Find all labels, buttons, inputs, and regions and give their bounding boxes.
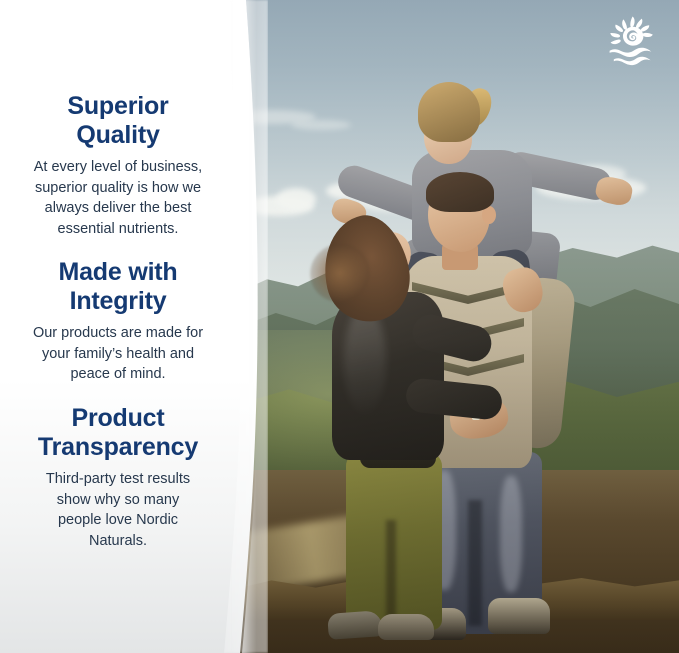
value-prop-heading: Made with Integrity bbox=[12, 258, 224, 315]
heading-line-1: Superior bbox=[67, 92, 168, 120]
jeans-shadow bbox=[468, 500, 482, 626]
value-prop-product-transparency: Product Transparency Third-party test re… bbox=[12, 404, 224, 551]
brand-logo bbox=[605, 14, 661, 66]
value-props-list: Superior Quality At every level of busin… bbox=[0, 0, 244, 653]
heading-line-1: Made with bbox=[58, 258, 177, 286]
child-hair bbox=[418, 82, 480, 142]
lifestyle-photo bbox=[236, 0, 679, 653]
sun-wave-logo-icon bbox=[605, 14, 661, 66]
value-prop-body: At every level of business, superior qua… bbox=[12, 157, 224, 239]
marketing-banner: Superior Quality At every level of busin… bbox=[0, 0, 679, 653]
heading-line-2: Integrity bbox=[70, 287, 167, 315]
value-prop-heading: Superior Quality bbox=[12, 92, 224, 149]
value-prop-body: Our products are made for your family’s … bbox=[12, 323, 224, 385]
value-prop-made-with-integrity: Made with Integrity Our products are mad… bbox=[12, 258, 224, 385]
mother-left-shoe bbox=[327, 610, 383, 640]
photo-scene bbox=[236, 0, 679, 653]
jeans-highlight bbox=[500, 476, 522, 592]
heading-line-1: Product bbox=[71, 404, 164, 432]
cloud bbox=[276, 188, 316, 210]
mother-right-shoe bbox=[378, 614, 434, 640]
value-prop-body: Third-party test results show why so man… bbox=[12, 469, 224, 551]
value-prop-superior-quality: Superior Quality At every level of busin… bbox=[12, 92, 224, 239]
father-right-shoe bbox=[488, 598, 550, 634]
value-prop-heading: Product Transparency bbox=[12, 404, 224, 461]
jacket-highlight bbox=[344, 306, 386, 416]
father-hair bbox=[426, 172, 494, 212]
cloud bbox=[291, 120, 351, 130]
heading-line-2: Transparency bbox=[38, 433, 198, 461]
heading-line-2: Quality bbox=[76, 121, 159, 149]
pants-shadow bbox=[386, 520, 396, 624]
